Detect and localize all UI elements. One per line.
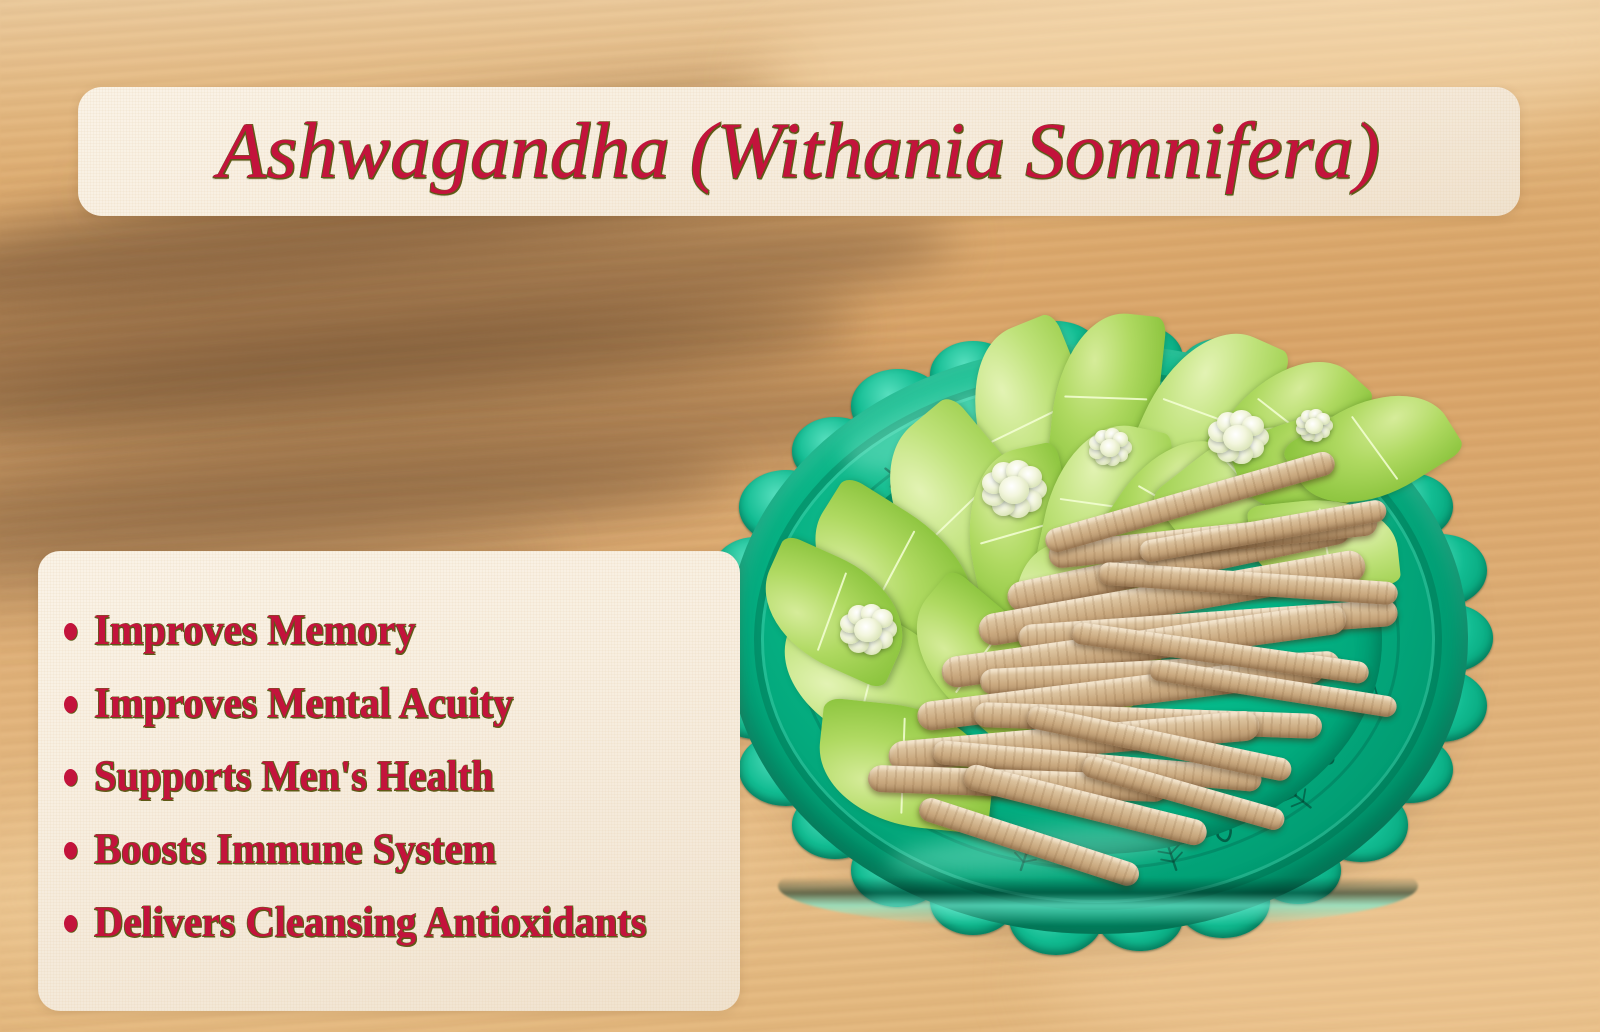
benefit-label: Improves Mental Acuity bbox=[94, 682, 513, 725]
ashwagandha-flower-center bbox=[854, 618, 881, 643]
benefit-list-item: Delivers Cleansing Antioxidants bbox=[64, 901, 740, 974]
benefit-list-item: Supports Men's Health bbox=[64, 755, 740, 828]
ashwagandha-flower-center bbox=[999, 476, 1030, 504]
benefit-list-item: Improves Memory bbox=[64, 609, 740, 682]
ashwagandha-flower-center bbox=[1305, 418, 1323, 434]
benefit-label: Boosts Immune System bbox=[94, 828, 496, 871]
bullet-dot-icon bbox=[64, 842, 77, 859]
bullet-dot-icon bbox=[64, 696, 77, 713]
benefits-list: Improves MemoryImproves Mental AcuitySup… bbox=[38, 551, 740, 1011]
benefit-label: Supports Men's Health bbox=[94, 755, 494, 798]
bullet-dot-icon bbox=[64, 769, 77, 786]
benefit-list-item: Boosts Immune System bbox=[64, 828, 740, 901]
bullet-dot-icon bbox=[64, 623, 77, 640]
ashwagandha-photo bbox=[718, 330, 1478, 950]
bullet-dot-icon bbox=[64, 915, 77, 932]
ashwagandha-flower-center bbox=[1223, 425, 1252, 451]
page-title: Ashwagandha (Withania Somnifera) bbox=[78, 87, 1520, 216]
benefit-label: Delivers Cleansing Antioxidants bbox=[94, 901, 646, 944]
benefit-label: Improves Memory bbox=[94, 609, 415, 652]
benefit-list-item: Improves Mental Acuity bbox=[64, 682, 740, 755]
poster-canvas: Ashwagandha (Withania Somnifera) Improve… bbox=[0, 0, 1600, 1032]
plate-bottom-edge bbox=[778, 842, 1418, 930]
